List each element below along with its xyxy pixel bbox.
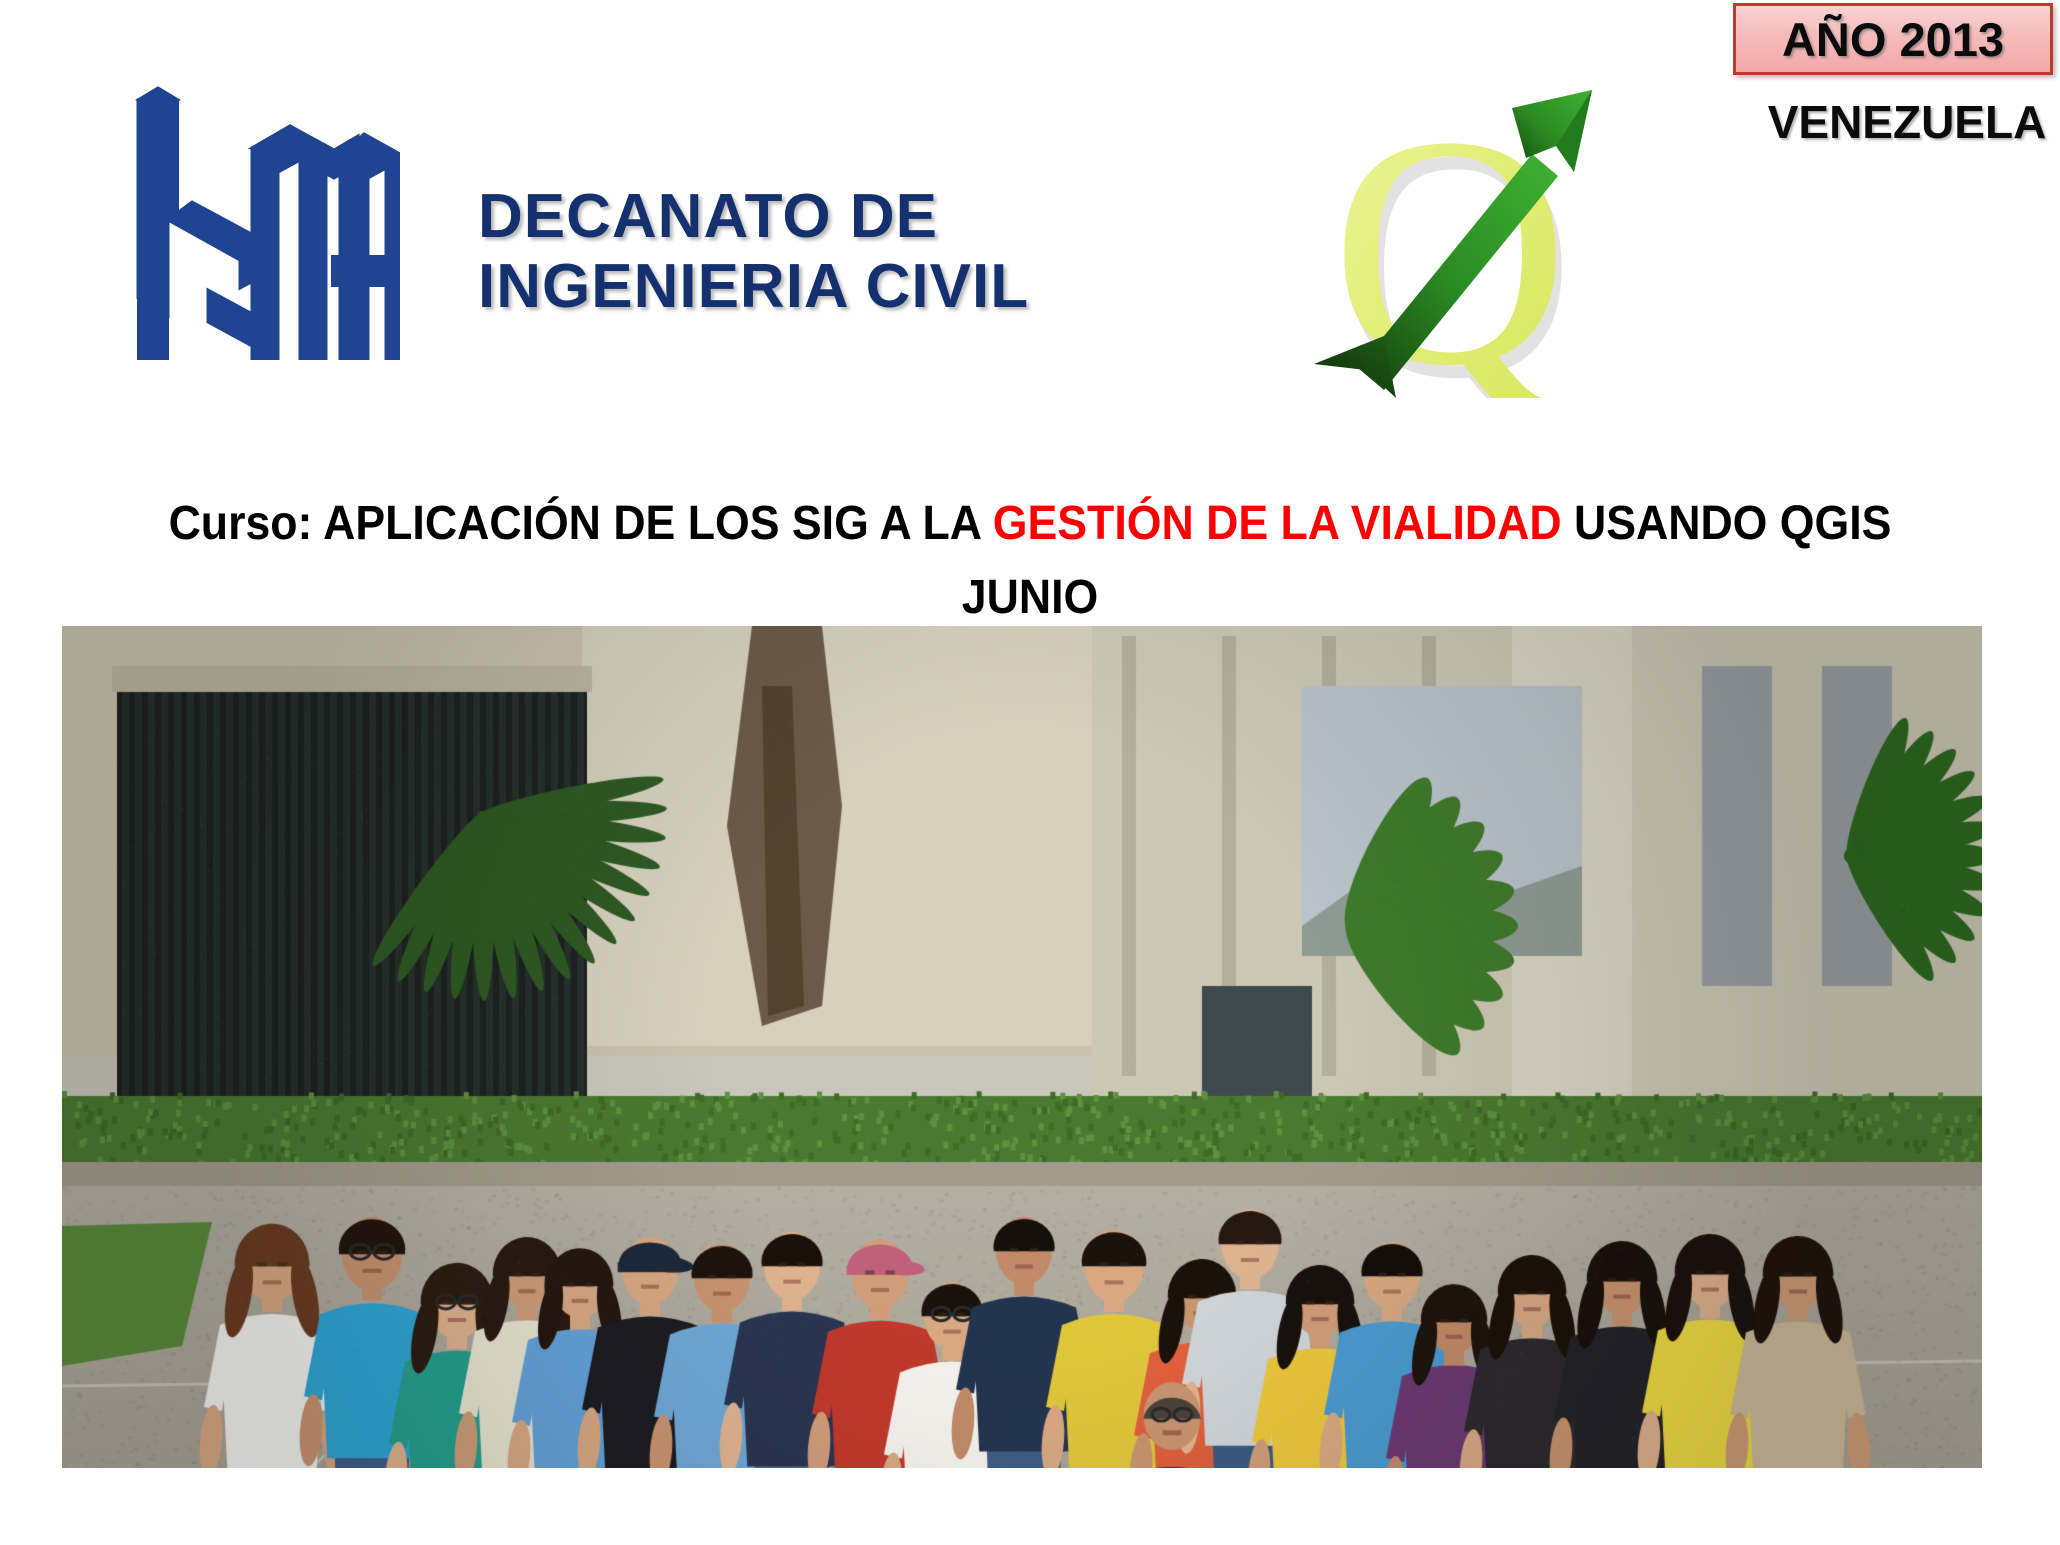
course-month: JUNIO <box>72 570 1988 625</box>
institution-heading: DECANATO DE INGENIERIA CIVIL <box>478 182 1029 322</box>
qgis-logo-icon: Q Q <box>1300 68 1600 398</box>
country-label: VENEZUELA <box>1742 95 2060 149</box>
course-title: Curso: APLICACIÓN DE LOS SIG A LA GESTIÓ… <box>72 496 1988 551</box>
year-badge: AÑO 2013 <box>1733 3 2053 75</box>
ucla-isometric-logo-icon <box>100 60 400 360</box>
course-title-prefix: Curso: APLICACIÓN DE LOS SIG A LA <box>169 497 993 550</box>
institution-line-2: INGENIERIA CIVIL <box>478 252 1029 322</box>
institution-line-1: DECANATO DE <box>478 182 1029 252</box>
year-badge-label: AÑO 2013 <box>1782 12 2004 67</box>
course-title-suffix: USANDO QGIS <box>1562 497 1892 550</box>
group-photo-canvas <box>62 626 1982 1468</box>
slide-canvas: AÑO 2013 VENEZUELA <box>0 0 2060 1545</box>
course-title-highlight: GESTIÓN DE LA VIALIDAD <box>993 497 1562 550</box>
group-photo <box>62 626 1982 1468</box>
